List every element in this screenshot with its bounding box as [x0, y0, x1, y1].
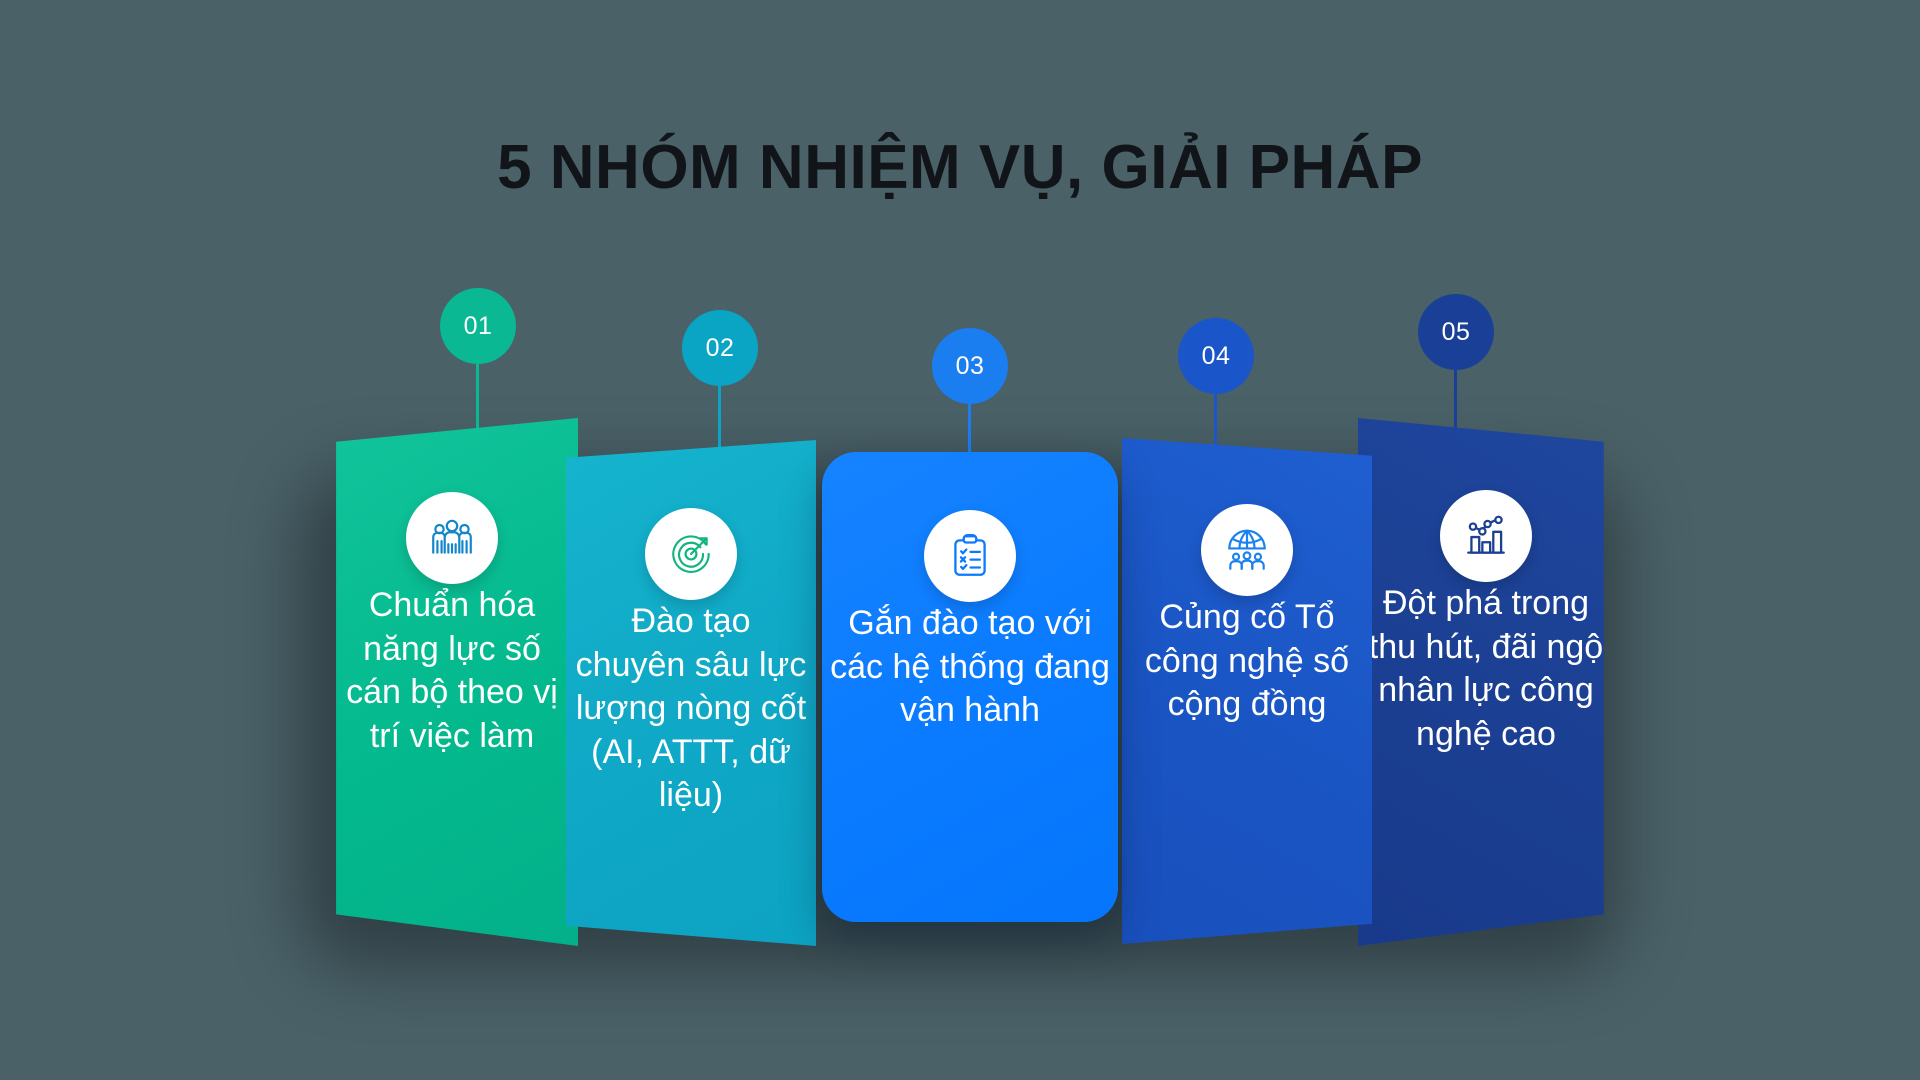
card-02[interactable]: Đào tạo chuyên sâu lực lượng nòng cốt (A… — [566, 440, 816, 946]
clipboard-checklist-icon — [924, 510, 1016, 602]
badge-01-label: 01 — [464, 312, 493, 341]
badge-03-label: 03 — [956, 352, 985, 381]
badge-04-label: 04 — [1202, 342, 1231, 371]
badge-02[interactable]: 02 — [682, 310, 758, 386]
card-05[interactable]: Đột phá trong thu hút, đãi ngộ nhân lực … — [1358, 418, 1614, 946]
card-01[interactable]: Chuẩn hóa năng lực số cán bộ theo vị trí… — [326, 418, 578, 946]
infographic-stage: 5 NHÓM NHIỆM VỤ, GIẢI PHÁP — [0, 0, 1920, 1080]
bar-chart-trend-icon — [1440, 490, 1532, 582]
connector-stem-05 — [1454, 370, 1457, 436]
card-03[interactable]: Gắn đào tạo với các hệ thống đang vận hà… — [822, 452, 1118, 922]
connector-stem-01 — [476, 364, 479, 436]
card-05-text: Đột phá trong thu hút, đãi ngộ nhân lực … — [1358, 582, 1614, 756]
card-03-text: Gắn đào tạo với các hệ thống đang vận hà… — [822, 602, 1118, 733]
card-04[interactable]: Củng cố Tổ công nghệ số cộng đồng — [1122, 438, 1372, 944]
card-group: Chuẩn hóa năng lực số cán bộ theo vị trí… — [0, 0, 1920, 1080]
globe-community-icon — [1201, 504, 1293, 596]
target-arrow-icon — [645, 508, 737, 600]
people-group-icon — [406, 492, 498, 584]
badge-05[interactable]: 05 — [1418, 294, 1494, 370]
badge-04[interactable]: 04 — [1178, 318, 1254, 394]
badge-05-label: 05 — [1442, 318, 1471, 347]
badge-02-label: 02 — [706, 334, 735, 363]
card-02-text: Đào tạo chuyên sâu lực lượng nòng cốt (A… — [566, 600, 816, 818]
badge-01[interactable]: 01 — [440, 288, 516, 364]
badge-03[interactable]: 03 — [932, 328, 1008, 404]
card-04-text: Củng cố Tổ công nghệ số cộng đồng — [1122, 596, 1372, 727]
card-01-text: Chuẩn hóa năng lực số cán bộ theo vị trí… — [326, 584, 578, 758]
